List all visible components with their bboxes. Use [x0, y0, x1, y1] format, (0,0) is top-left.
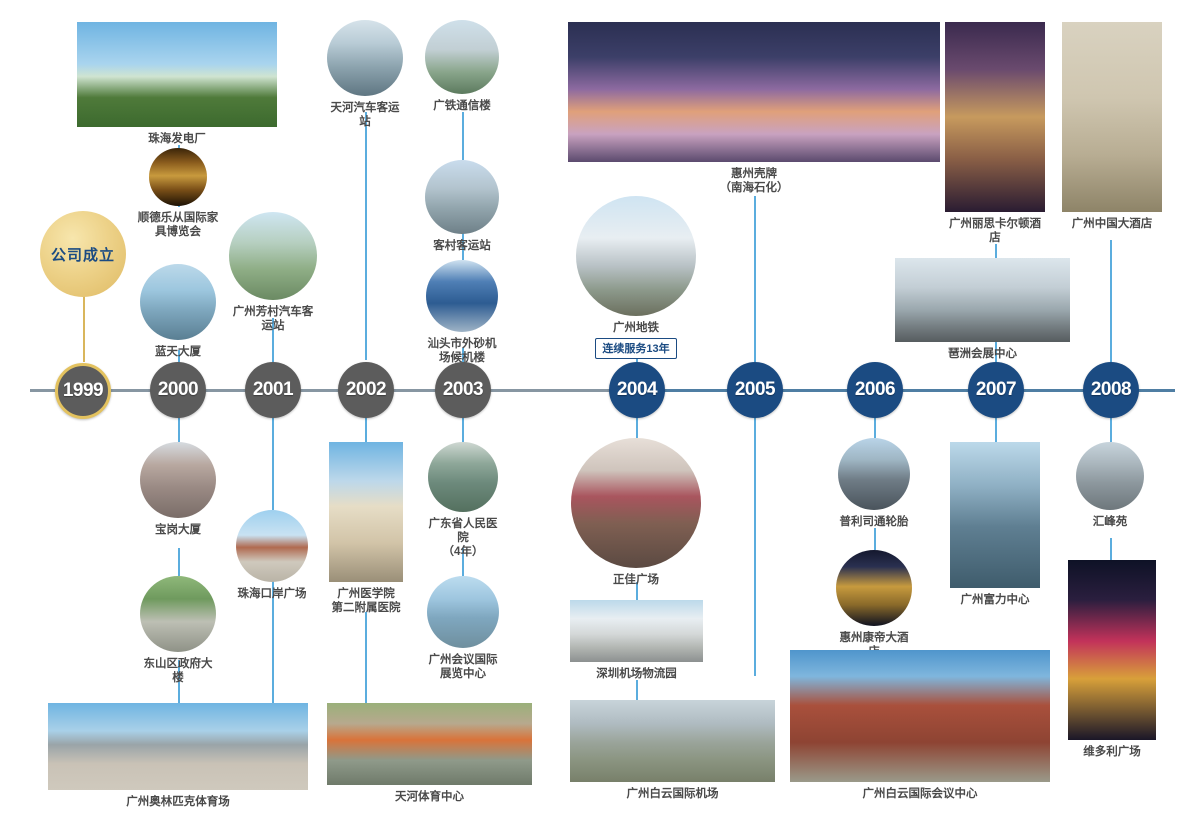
huizhou-shell-photo — [568, 22, 940, 162]
year-node-1999[interactable]: 1999 — [55, 363, 111, 419]
project-guangdong-peoples-hospital[interactable]: 广东省人民医院 （4年） — [428, 442, 498, 559]
project-caption: 普利司通轮胎 — [840, 515, 909, 529]
project-tianhe-bus-station[interactable]: 天河汽车客运站 — [325, 20, 405, 129]
olympic-stadium-photo — [48, 703, 308, 790]
year-node-2000[interactable]: 2000 — [150, 362, 206, 418]
timeline-infographic: 公司成立 1999 2000 2001 2002 2003 2004 2005 … — [0, 0, 1200, 814]
project-guangtie-telecom-building[interactable]: 广铁通信楼 — [424, 20, 500, 113]
connector-2008-up — [1110, 240, 1112, 362]
baiyun-airport-photo — [570, 700, 775, 782]
project-caption: 东山区政府大楼 — [139, 657, 217, 685]
project-huizhou-shell-nanhai[interactable]: 惠州壳牌 （南海石化） — [568, 22, 940, 195]
year-node-2004[interactable]: 2004 — [609, 362, 665, 418]
zhuhai-port-plaza-photo — [236, 510, 308, 582]
project-gz-convention-exhibition-center[interactable]: 广州会议国际展览中心 — [426, 576, 500, 681]
shenzhen-logistics-photo — [570, 600, 703, 662]
huifeng-yuan-photo — [1076, 442, 1144, 510]
tianhe-bus-station-photo — [327, 20, 403, 96]
lantian-building-photo — [140, 264, 216, 340]
connector-2006-mid — [874, 528, 876, 550]
project-caption: 广州中国大酒店 — [1072, 217, 1153, 231]
shunde-furniture-expo-photo — [149, 148, 207, 206]
project-caption: 惠州壳牌 （南海石化） — [720, 167, 789, 195]
project-bridgestone-tire[interactable]: 普利司通轮胎 — [838, 438, 910, 529]
tianhe-sports-photo — [327, 703, 532, 785]
project-caption: 汇峰苑 — [1093, 515, 1128, 529]
project-guangzhou-baiyun-airport[interactable]: 广州白云国际机场 — [570, 700, 775, 801]
fuli-center-photo — [950, 442, 1040, 588]
connector-2002-up — [365, 112, 367, 360]
project-caption: 珠海发电厂 — [148, 132, 206, 146]
connector-2005-up — [754, 196, 756, 362]
year-node-2003[interactable]: 2003 — [435, 362, 491, 418]
zhengjia-plaza-photo — [571, 438, 701, 568]
connector-2004-bottom — [636, 680, 638, 702]
year-node-2002[interactable]: 2002 — [338, 362, 394, 418]
connector-2003-a — [462, 112, 464, 160]
project-caption: 天河体育中心 — [395, 790, 464, 804]
project-caption: 广州奥林匹克体育场 — [126, 795, 230, 809]
project-huifeng-yuan[interactable]: 汇峰苑 — [1076, 442, 1144, 529]
project-shenzhen-airport-logistics[interactable]: 深圳机场物流园 — [570, 600, 703, 681]
project-caption: 广州富力中心 — [961, 593, 1030, 607]
project-huizhou-kangdi-hotel[interactable]: 惠州康帝大酒店 — [836, 550, 912, 659]
baogang-building-photo — [140, 442, 216, 518]
project-caption: 深圳机场物流园 — [596, 667, 677, 681]
project-zhengjia-plaza[interactable]: 正佳广场 — [571, 438, 701, 587]
project-zhuhai-port-plaza[interactable]: 珠海口岸广场 — [236, 510, 308, 601]
project-zhuhai-power-plant[interactable]: 珠海发电厂 — [77, 22, 277, 146]
project-caption: 正佳广场 — [613, 573, 659, 587]
fangcun-bus-station-photo — [229, 212, 317, 300]
project-guangzhou-fangcun-bus-station[interactable]: 广州芳村汽车客运站 — [228, 212, 318, 333]
gz-medical-hospital-photo — [329, 442, 403, 582]
gz-convention-photo — [427, 576, 499, 648]
baiyun-conference-photo — [790, 650, 1050, 782]
project-caption: 广州医学院 第二附属医院 — [332, 587, 401, 615]
year-node-2005[interactable]: 2005 — [727, 362, 783, 418]
pazhou-exhibition-photo — [895, 258, 1070, 342]
victory-plaza-photo — [1068, 560, 1156, 740]
project-victory-plaza[interactable]: 维多利广场 — [1068, 560, 1156, 759]
project-shunde-furniture-expo[interactable]: 顺德乐从国际家具博览会 — [137, 148, 219, 239]
project-caption: 宝岗大厦 — [155, 523, 201, 537]
year-node-2007[interactable]: 2007 — [968, 362, 1024, 418]
project-caption: 广州芳村汽车客运站 — [228, 305, 318, 333]
project-lantian-building[interactable]: 蓝天大厦 — [139, 264, 217, 359]
project-caption: 维多利广场 — [1083, 745, 1141, 759]
founding-bubble: 公司成立 — [40, 211, 126, 297]
project-caption: 珠海口岸广场 — [238, 587, 307, 601]
project-guangzhou-china-hotel[interactable]: 广州中国大酒店 — [1062, 22, 1162, 231]
kecun-bus-station-photo — [425, 160, 499, 234]
connector-founding — [83, 296, 85, 362]
project-caption: 广州白云国际会议中心 — [863, 787, 978, 801]
project-guangzhou-fuli-center[interactable]: 广州富力中心 — [950, 442, 1040, 607]
project-caption: 广铁通信楼 — [433, 99, 491, 113]
bridgestone-photo — [838, 438, 910, 510]
shantou-waisha-photo — [426, 260, 498, 332]
dongshan-government-photo — [140, 576, 216, 652]
project-dongshan-government-building[interactable]: 东山区政府大楼 — [139, 576, 217, 685]
guangdong-peoples-hospital-photo — [428, 442, 498, 512]
project-pazhou-exhibition-center[interactable]: 琶洲会展中心 — [895, 258, 1070, 361]
project-caption: 广州丽思卡尔顿酒店 — [945, 217, 1045, 245]
project-tianhe-sports-center[interactable]: 天河体育中心 — [327, 703, 532, 804]
china-hotel-photo — [1062, 22, 1162, 212]
project-caption: 天河汽车客运站 — [325, 101, 405, 129]
project-caption: 广州白云国际机场 — [627, 787, 719, 801]
kangdi-hotel-photo — [836, 550, 912, 626]
project-gz-medical-second-hospital[interactable]: 广州医学院 第二附属医院 — [329, 442, 403, 615]
zhuhai-power-plant-photo — [77, 22, 277, 127]
year-node-2008[interactable]: 2008 — [1083, 362, 1139, 418]
year-node-2006[interactable]: 2006 — [847, 362, 903, 418]
project-caption: 广州会议国际展览中心 — [426, 653, 500, 681]
project-caption: 汕头市外砂机场候机楼 — [426, 337, 498, 365]
project-guangzhou-olympic-stadium[interactable]: 广州奥林匹克体育场 — [48, 703, 308, 809]
connector-2002-bottom — [365, 612, 367, 708]
connector-2005-down — [754, 390, 756, 676]
project-caption: 蓝天大厦 — [155, 345, 201, 359]
project-shantou-waisha-terminal[interactable]: 汕头市外砂机场候机楼 — [426, 260, 498, 365]
metro-service-badge: 连续服务13年 — [595, 338, 676, 359]
connector-baogang-dongshan — [178, 548, 180, 576]
project-caption: 广东省人民医院 （4年） — [428, 517, 498, 559]
project-guangzhou-baiyun-conference-center[interactable]: 广州白云国际会议中心 — [790, 650, 1050, 801]
year-node-2001[interactable]: 2001 — [245, 362, 301, 418]
project-guangzhou-ritz-carlton[interactable]: 广州丽思卡尔顿酒店 — [945, 22, 1045, 245]
project-caption: 琶洲会展中心 — [948, 347, 1017, 361]
project-caption: 顺德乐从国际家具博览会 — [137, 211, 219, 239]
project-baogang-building[interactable]: 宝岗大厦 — [139, 442, 217, 537]
project-caption: 客村客运站 — [433, 239, 491, 253]
timeline-axis-left — [30, 389, 615, 392]
project-guangzhou-metro[interactable]: 广州地铁 连续服务13年 — [576, 196, 696, 359]
project-caption: 广州地铁 — [613, 321, 659, 335]
guangtie-telecom-photo — [425, 20, 499, 94]
ritz-carlton-photo — [945, 22, 1045, 212]
guangzhou-metro-photo — [576, 196, 696, 316]
project-kecun-bus-station[interactable]: 客村客运站 — [424, 160, 500, 253]
